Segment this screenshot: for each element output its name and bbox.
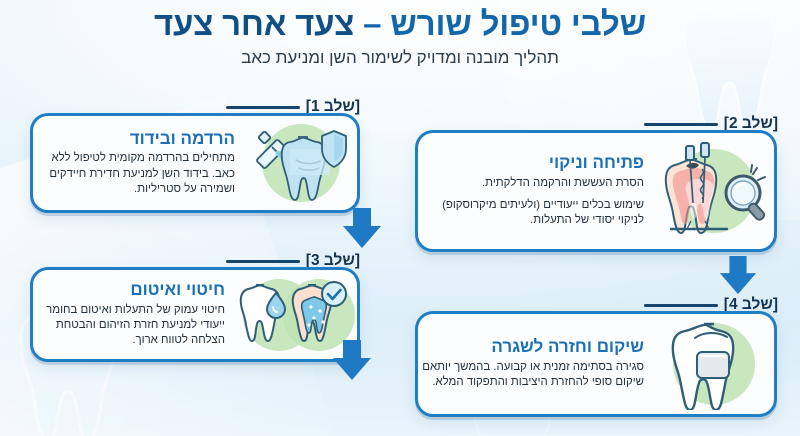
step-label-2-rule (644, 123, 718, 126)
step-1-body: מתחילים בהרדמה מקומית לטיפול ללא כאב. בי… (37, 151, 235, 197)
step-3-icon (235, 269, 357, 361)
page-title-dash: – (363, 5, 381, 42)
step-4-heading: שיקום וחזרה לשגרה (422, 337, 644, 357)
infographic-canvas: שלבי טיפול שורש – צעד אחר צעד תהליך מובנ… (0, 0, 800, 436)
step-2-heading: פתיחה וניקוי (422, 153, 644, 173)
step-3-text-block: חיטוי ואיטום חיטוי עמוק של התעלות ואיטום… (33, 274, 235, 355)
tooth-files-magnifier-icon (657, 141, 771, 241)
page-title: שלבי טיפול שורש – צעד אחר צעד (0, 6, 800, 43)
step-1-text-block: הרדמה ובידוד מתחילים בהרדמה מקומית לטיפו… (33, 123, 245, 204)
step-4-text-block: שיקום וחזרה לשגרה סגירה בסתימה זמנית או … (418, 331, 654, 396)
step-3-body: חיטוי עמוק של התעלות ואיטום בחומר ייעודי… (37, 303, 225, 349)
tooth-filling-icon (671, 318, 757, 410)
step-1-heading: הרדמה ובידוד (37, 129, 235, 149)
step-card-4[interactable]: שיקום וחזרה לשגרה סגירה בסתימה זמנית או … (415, 311, 777, 417)
step-2-body-secondary: שימוש בכלים ייעודיים (ולעיתים מיקרוסקופ)… (422, 198, 644, 229)
step-card-3[interactable]: חיטוי ואיטום חיטוי עמוק של התעלות ואיטום… (30, 267, 360, 362)
step-2-icon (654, 137, 774, 245)
page-title-main: שלבי טיפול שורש (390, 5, 646, 42)
step-label-3-rule (226, 260, 300, 263)
step-label-1-rule (226, 106, 300, 109)
step-card-1[interactable]: הרדמה ובידוד מתחילים בהרדמה מקומית לטיפו… (30, 113, 360, 213)
step-4-icon (654, 316, 774, 412)
page-title-emphasis: צעד אחר צעד (154, 5, 354, 42)
step-3-heading: חיטוי ואיטום (37, 280, 225, 300)
arrow-step1-to-step3 (340, 208, 384, 250)
header: שלבי טיפול שורש – צעד אחר צעד תהליך מובנ… (0, 6, 800, 68)
tooth-droplet-check-icon (238, 277, 354, 353)
step-4-body: סגירה בסתימה זמנית או קבועה. בהמשך יותאם… (422, 360, 644, 391)
step-2-text-block: פתיחה וניקוי הסרת העששת והרקמה הדלקתית. … (418, 147, 654, 235)
page-subtitle: תהליך מובנה ומדויק לשימור השן ומניעת כאב (0, 48, 800, 68)
step-1-icon (245, 117, 357, 209)
step-label-4-rule (644, 304, 718, 307)
step-2-body: הסרת העששת והרקמה הדלקתית. (422, 176, 644, 191)
step-card-2[interactable]: פתיחה וניקוי הסרת העששת והרקמה הדלקתית. … (415, 130, 777, 252)
arrow-step2-to-step4 (716, 256, 760, 296)
syringe-tooth-shield-icon (252, 123, 350, 203)
